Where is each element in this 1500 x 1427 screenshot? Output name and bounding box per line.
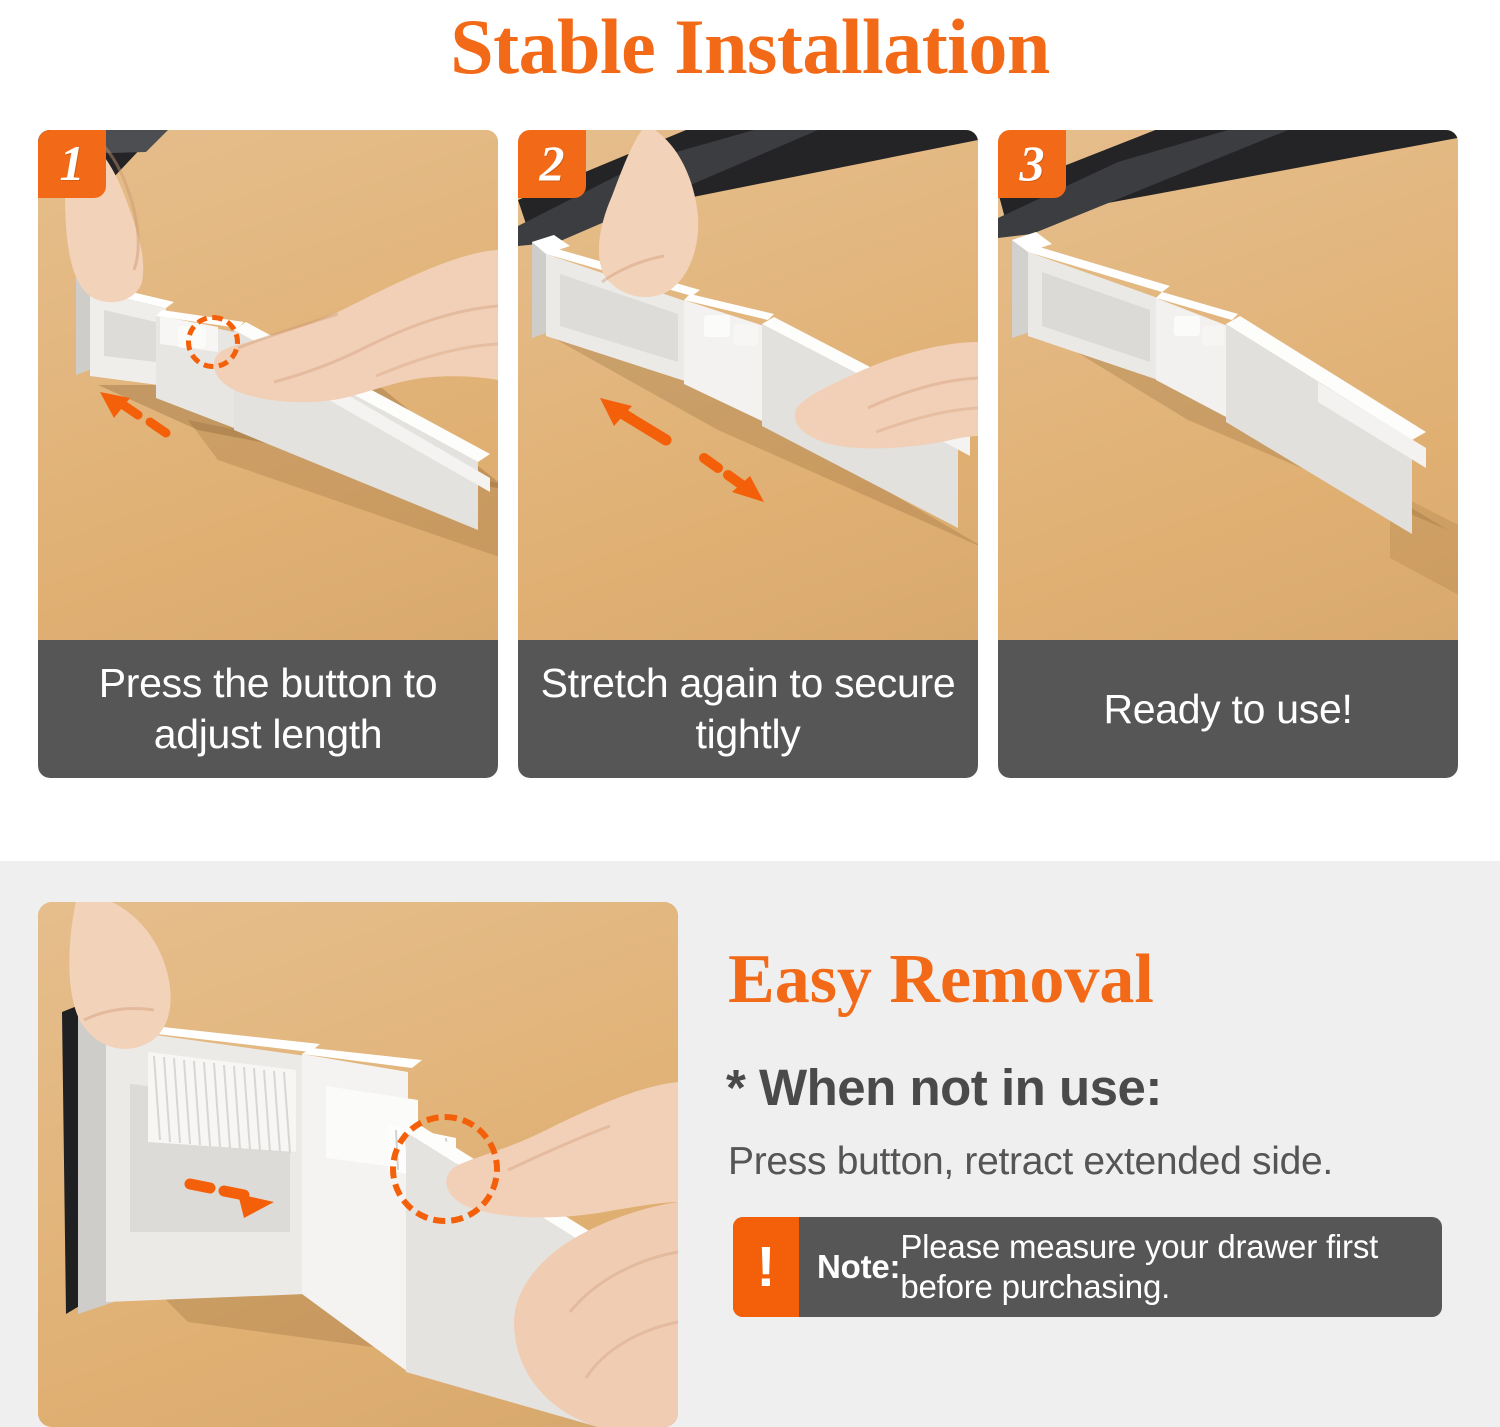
page-title: Stable Installation bbox=[0, 4, 1500, 90]
exclamation-icon: ! bbox=[733, 1217, 799, 1317]
dashed-arrow-right bbox=[38, 902, 678, 1427]
easy-removal-section: Easy Removal * When not in use: Press bu… bbox=[0, 861, 1500, 1427]
arrow-annotations bbox=[518, 130, 978, 640]
stable-installation-section: Stable Installation bbox=[0, 0, 1500, 861]
note-body: Please measure your drawer first before … bbox=[900, 1227, 1432, 1307]
step-caption-2: Stretch again to secure tightly bbox=[518, 640, 978, 778]
easy-removal-title: Easy Removal bbox=[728, 941, 1154, 1019]
step-1-photo bbox=[38, 130, 498, 640]
note-banner: ! Note: Please measure your drawer first… bbox=[733, 1217, 1442, 1317]
dashed-arrow-left bbox=[38, 130, 498, 640]
step-panel-1: 1 Press the button to adjust length bbox=[38, 130, 498, 778]
easy-removal-photo bbox=[38, 902, 678, 1427]
step-caption-3: Ready to use! bbox=[998, 640, 1458, 778]
dashed-highlight-circle bbox=[390, 1114, 500, 1224]
step-3-photo bbox=[998, 130, 1458, 640]
solid-arrow-left bbox=[600, 398, 666, 440]
step-2-photo bbox=[518, 130, 978, 640]
dashed-highlight-circle bbox=[186, 315, 240, 369]
step-badge-2: 2 bbox=[518, 130, 586, 198]
step-badge-3: 3 bbox=[998, 130, 1066, 198]
note-label: Note: bbox=[817, 1247, 900, 1287]
step-panel-3: 3 Ready to use! bbox=[998, 130, 1458, 778]
dashed-arrow-right bbox=[704, 458, 742, 485]
step-panel-2: 2 Stretch again to secure tightly bbox=[518, 130, 978, 778]
installed-divider bbox=[998, 130, 1458, 640]
note-text: Note: Please measure your drawer first b… bbox=[799, 1217, 1442, 1317]
step-caption-1: Press the button to adjust length bbox=[38, 640, 498, 778]
easy-removal-description: Press button, retract extended side. bbox=[728, 1138, 1333, 1186]
easy-removal-subtitle: * When not in use: bbox=[726, 1058, 1162, 1118]
step-badge-1: 1 bbox=[38, 130, 106, 198]
